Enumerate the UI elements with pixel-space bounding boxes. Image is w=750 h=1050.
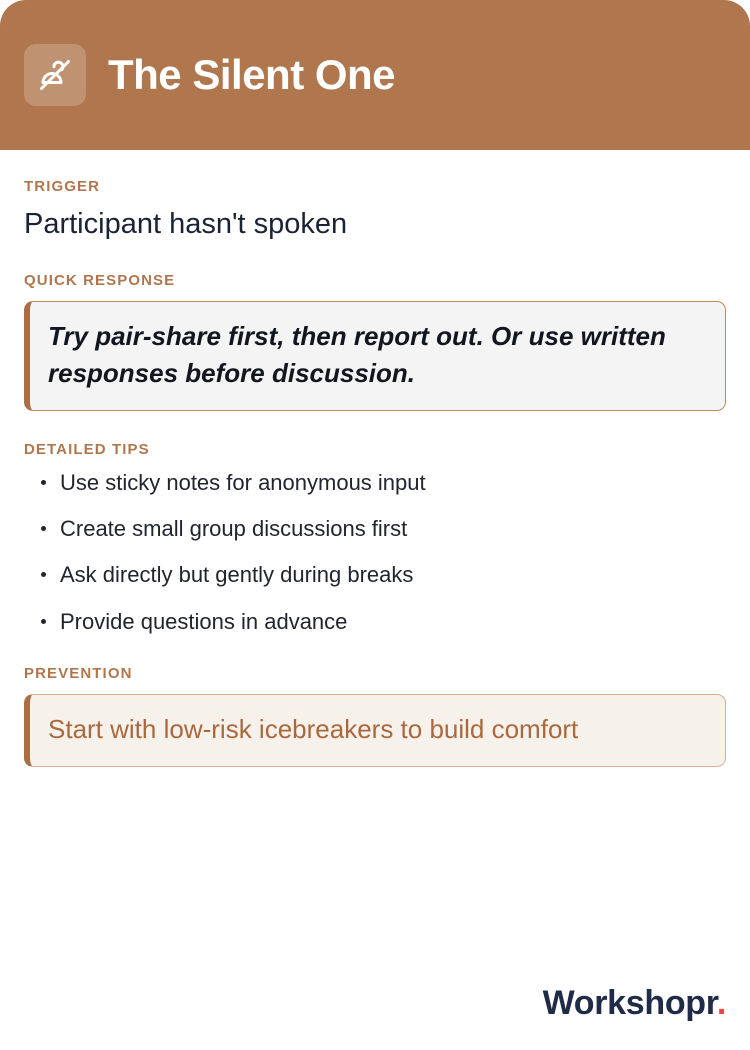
- brand-logo: Workshopr.: [543, 986, 726, 1020]
- brand-name: Workshopr: [543, 984, 717, 1022]
- list-item: Create small group discussions first: [24, 516, 726, 542]
- list-item: Provide questions in advance: [24, 609, 726, 635]
- detailed-tips-list: Use sticky notes for anonymous input Cre…: [24, 470, 726, 636]
- detailed-tips-label: DETAILED TIPS: [24, 441, 726, 458]
- quick-response-text: Try pair-share first, then report out. O…: [48, 318, 707, 392]
- prevention-label: PREVENTION: [24, 665, 726, 682]
- page-title: The Silent One: [108, 54, 395, 96]
- prevention-text: Start with low-risk icebreakers to build…: [48, 711, 707, 748]
- trigger-label: TRIGGER: [24, 178, 726, 195]
- list-item: Use sticky notes for anonymous input: [24, 470, 726, 496]
- prevention-box: Start with low-risk icebreakers to build…: [24, 694, 726, 767]
- brand-dot: .: [717, 984, 726, 1022]
- card-body: TRIGGER Participant hasn't spoken QUICK …: [0, 150, 750, 940]
- trigger-text: Participant hasn't spoken: [24, 207, 726, 242]
- quick-response-box: Try pair-share first, then report out. O…: [24, 301, 726, 411]
- list-item: Ask directly but gently during breaks: [24, 562, 726, 588]
- quick-response-label: QUICK RESPONSE: [24, 272, 726, 289]
- speech-bubble-off-icon: [24, 44, 86, 106]
- card-footer: Workshopr.: [0, 940, 750, 1050]
- tip-card: The Silent One TRIGGER Participant hasn'…: [0, 0, 750, 1050]
- card-header: The Silent One: [0, 0, 750, 150]
